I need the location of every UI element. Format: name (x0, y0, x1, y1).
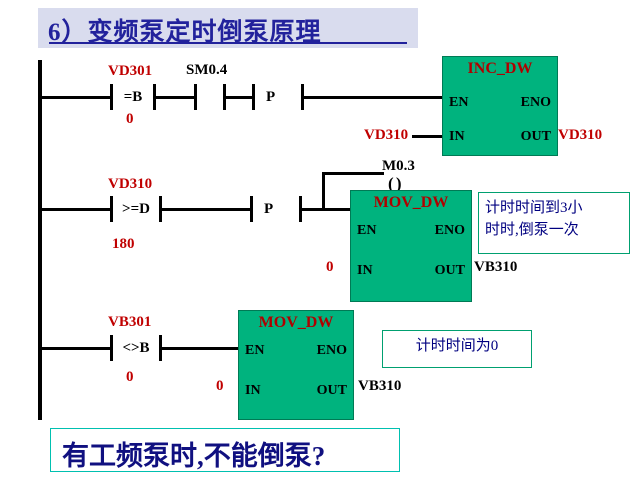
left-power-rail (38, 60, 42, 420)
rung3-wire-b (162, 347, 238, 350)
rung2-wire-b (162, 208, 250, 211)
note-3-hours: 计时时间到3小 时时,倒泵一次 (478, 192, 630, 254)
rung1-wire-d (304, 96, 442, 99)
note-line-2: 时时,倒泵一次 (485, 219, 623, 241)
contact-symbol: =B (110, 87, 156, 107)
contact-vd301[interactable]: =B (110, 84, 156, 110)
pin-out: OUT (521, 129, 551, 145)
note-line-1: 计时时间为0 (389, 335, 525, 357)
value-vb301: 0 (126, 369, 134, 386)
rung2-wire-a (42, 208, 110, 211)
slide-canvas: 6）变频泵定时倒泵原理 =B VD301 0 SM0.4 P INC_DW EN… (0, 0, 640, 480)
rung1-wire-c (226, 96, 252, 99)
value-vd301: 0 (126, 111, 134, 128)
block-mov-dw-1[interactable]: MOV_DW EN ENO IN OUT (350, 190, 472, 302)
operand-mov2-in: 0 (216, 378, 224, 395)
pin-out: OUT (317, 383, 347, 399)
rung2-wire-c (302, 208, 350, 211)
pin-in: IN (357, 263, 373, 279)
operand-inc-in: VD310 (364, 127, 408, 144)
pin-in: IN (245, 383, 261, 399)
pin-in: IN (449, 129, 465, 145)
block-title: MOV_DW (351, 194, 471, 212)
contact-p-1[interactable]: P (252, 84, 304, 110)
label-vd301: VD301 (108, 63, 152, 80)
label-m03: M0.3 (382, 158, 415, 175)
inc-in-wire (412, 135, 442, 138)
contact-vb301[interactable]: <>B (110, 335, 162, 361)
bottom-question-text: 有工频泵时,不能倒泵? (62, 434, 325, 473)
contact-bar-left (194, 84, 197, 110)
rung2-branch-horizontal (322, 172, 384, 175)
rung1-wire-b (156, 96, 194, 99)
pin-en: EN (357, 223, 376, 239)
pin-eno: ENO (435, 223, 465, 239)
operand-mov1-in: 0 (326, 259, 334, 276)
contact-symbol: P (264, 199, 273, 219)
contact-bar-left (250, 196, 253, 222)
note-line-1: 计时时间到3小 (485, 197, 623, 219)
rung1-wire-a (42, 96, 110, 99)
rung3-wire-a (42, 347, 110, 350)
value-vd310: 180 (112, 236, 135, 253)
operand-inc-out: VD310 (558, 127, 602, 144)
pin-eno: ENO (317, 343, 347, 359)
pin-out: OUT (435, 263, 465, 279)
pin-eno: ENO (521, 95, 551, 111)
note-timer-zero: 计时时间为0 (382, 330, 532, 368)
contact-symbol: P (266, 87, 275, 107)
block-title: INC_DW (443, 60, 557, 78)
contact-symbol: <>B (110, 338, 162, 358)
contact-symbol: >=D (110, 199, 162, 219)
operand-mov2-out: VB310 (358, 378, 401, 395)
contact-bar-left (252, 84, 255, 110)
contact-p-2[interactable]: P (250, 196, 302, 222)
label-sm04: SM0.4 (186, 62, 227, 79)
operand-mov1-out: VB310 (474, 259, 517, 276)
contact-vd310[interactable]: >=D (110, 196, 162, 222)
block-inc-dw[interactable]: INC_DW EN ENO IN OUT (442, 56, 558, 156)
label-vb301: VB301 (108, 314, 151, 331)
title-underline (49, 42, 407, 44)
label-vd310: VD310 (108, 176, 152, 193)
contact-sm04[interactable] (194, 84, 226, 110)
rung2-branch-vertical (322, 172, 325, 211)
block-title: MOV_DW (239, 314, 353, 332)
block-mov-dw-2[interactable]: MOV_DW EN ENO IN OUT (238, 310, 354, 420)
pin-en: EN (449, 95, 468, 111)
pin-en: EN (245, 343, 264, 359)
